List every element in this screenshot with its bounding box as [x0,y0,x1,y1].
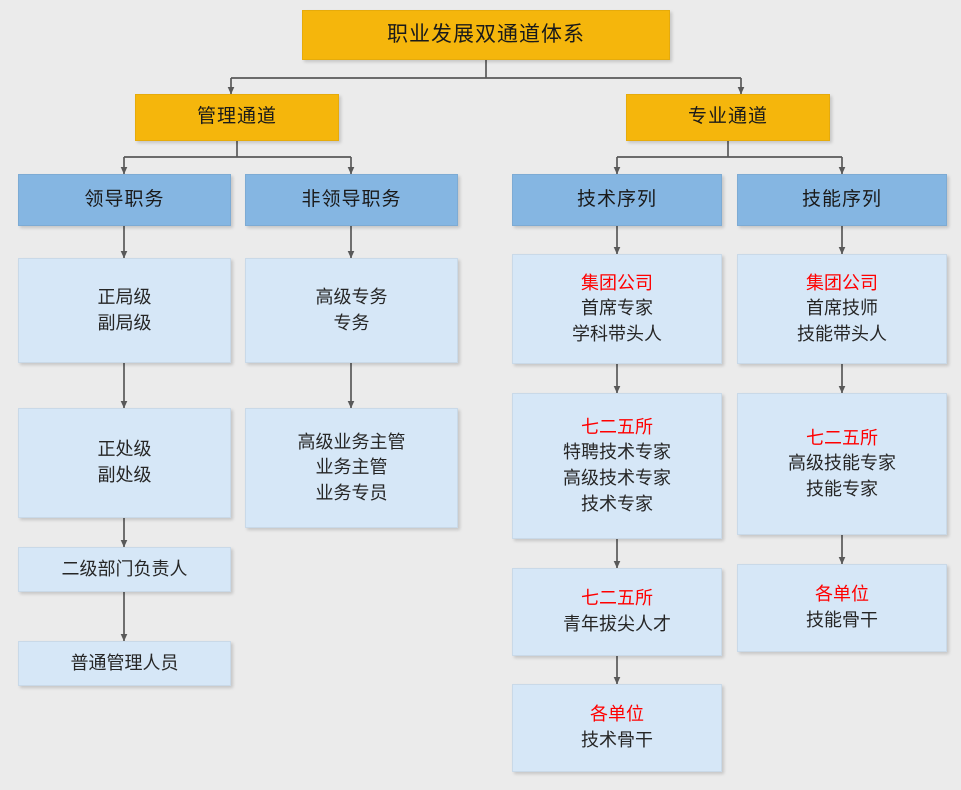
node-line: 技能带头人 [797,322,887,348]
node-line: 专务 [334,311,370,337]
node-heading: 七二五所 [581,415,653,441]
node-non-leadership-rank-2[interactable]: 高级业务主管 业务主管 业务专员 [245,408,458,528]
node-skill-rank-2[interactable]: 七二五所 高级技能专家 技能专家 [737,393,947,535]
node-technical-series-label: 技术序列 [577,187,657,214]
node-line: 青年拔尖人才 [563,612,671,638]
node-line: 业务主管 [316,455,388,481]
node-line: 高级业务主管 [298,430,406,456]
node-line: 副处级 [98,463,152,489]
org-chart-canvas: 职业发展双通道体系 管理通道 专业通道 领导职务 非领导职务 技术序列 技能序列… [0,0,961,790]
node-management-channel[interactable]: 管理通道 [135,94,339,141]
node-management-channel-label: 管理通道 [197,104,277,131]
node-line: 正局级 [98,285,152,311]
node-line: 高级专务 [316,285,388,311]
node-non-leadership-post-label: 非领导职务 [301,187,401,214]
node-line: 正处级 [98,437,152,463]
node-root-label: 职业发展双通道体系 [387,20,585,50]
node-skill-rank-1[interactable]: 集团公司 首席技师 技能带头人 [737,254,947,364]
node-leadership-rank-3[interactable]: 二级部门负责人 [18,547,231,592]
node-root[interactable]: 职业发展双通道体系 [302,10,670,60]
node-line: 二级部门负责人 [62,557,188,583]
node-technical-rank-2[interactable]: 七二五所 特聘技术专家 高级技术专家 技术专家 [512,393,722,539]
node-heading: 七二五所 [581,586,653,612]
node-line: 学科带头人 [572,322,662,348]
node-technical-rank-3[interactable]: 七二五所 青年拔尖人才 [512,568,722,656]
node-leadership-post[interactable]: 领导职务 [18,174,231,226]
node-heading: 集团公司 [806,271,878,297]
node-line: 高级技能专家 [788,451,896,477]
node-heading: 各单位 [815,582,869,608]
node-line: 特聘技术专家 [563,440,671,466]
node-professional-channel-label: 专业通道 [688,104,768,131]
node-line: 高级技术专家 [563,466,671,492]
node-non-leadership-post[interactable]: 非领导职务 [245,174,458,226]
node-leadership-rank-2[interactable]: 正处级 副处级 [18,408,231,518]
node-technical-rank-4[interactable]: 各单位 技术骨干 [512,684,722,772]
node-heading: 集团公司 [581,271,653,297]
node-technical-rank-1[interactable]: 集团公司 首席专家 学科带头人 [512,254,722,364]
node-heading: 七二五所 [806,426,878,452]
node-heading: 各单位 [590,702,644,728]
node-technical-series[interactable]: 技术序列 [512,174,722,226]
node-skill-rank-3[interactable]: 各单位 技能骨干 [737,564,947,652]
node-line: 技术专家 [581,492,653,518]
node-line: 技术骨干 [581,728,653,754]
node-line: 普通管理人员 [71,651,179,677]
node-line: 首席专家 [581,296,653,322]
node-line: 首席技师 [806,296,878,322]
node-line: 技能专家 [806,477,878,503]
node-leadership-rank-4[interactable]: 普通管理人员 [18,641,231,686]
node-skill-series[interactable]: 技能序列 [737,174,947,226]
node-skill-series-label: 技能序列 [802,187,882,214]
node-professional-channel[interactable]: 专业通道 [626,94,830,141]
node-line: 技能骨干 [806,608,878,634]
node-leadership-rank-1[interactable]: 正局级 副局级 [18,258,231,363]
node-line: 业务专员 [316,481,388,507]
node-line: 副局级 [98,311,152,337]
node-non-leadership-rank-1[interactable]: 高级专务 专务 [245,258,458,363]
node-leadership-post-label: 领导职务 [84,187,164,214]
